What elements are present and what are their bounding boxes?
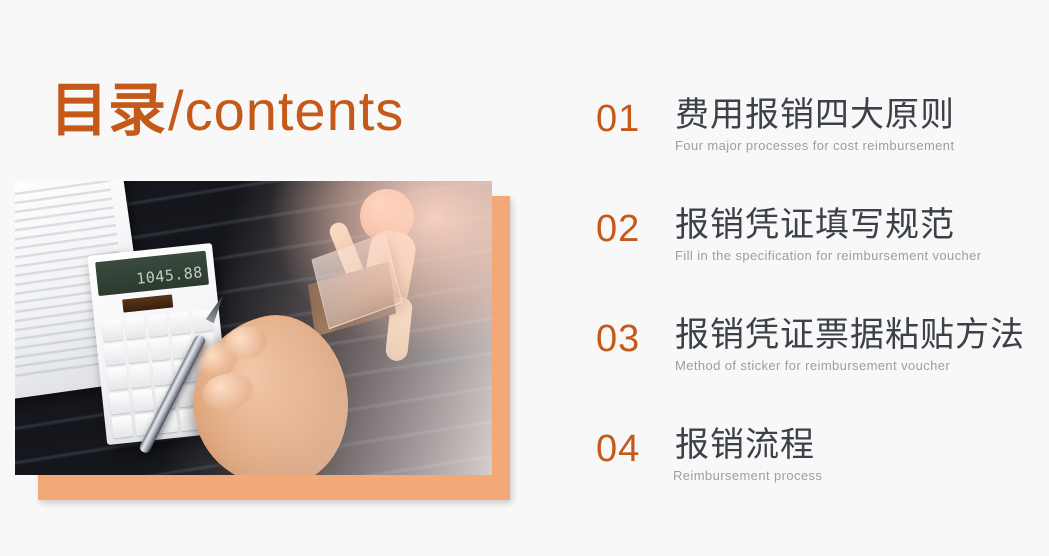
contents-item-04[interactable]: 04 报销流程 Reimbursement process	[596, 426, 1026, 536]
contents-item-title-cn: 报销凭证票据粘贴方法	[675, 316, 1025, 355]
contents-item-title-en: Fill in the specification for reimbursem…	[675, 248, 982, 263]
calculator-key	[132, 389, 154, 412]
calculator-key	[152, 362, 174, 385]
calculator-key	[126, 341, 148, 364]
calculator-key	[101, 319, 123, 342]
calculator-screen: 1045.88	[95, 251, 209, 296]
slide-canvas: 目录 /contents 1045.88	[0, 0, 1049, 556]
calculator-display-value: 1045.88	[135, 263, 203, 288]
calculator-key	[169, 312, 191, 335]
contents-item-texts: 报销凭证填写规范 Fill in the specification for r…	[675, 206, 982, 263]
contents-item-title-cn: 报销凭证填写规范	[675, 206, 982, 245]
calculator-key	[147, 314, 169, 337]
page-title-en: /contents	[168, 83, 404, 139]
contents-item-title-en: Method of sticker for reimbursement vouc…	[675, 358, 1025, 373]
contents-item-01[interactable]: 01 费用报销四大原则 Four major processes for cos…	[596, 96, 1026, 206]
contents-item-02[interactable]: 02 报销凭证填写规范 Fill in the specification fo…	[596, 206, 1026, 316]
calculator-key	[109, 391, 131, 414]
calculator-key	[124, 317, 146, 340]
page-title: 目录 /contents	[50, 82, 404, 140]
hero-photo: 1045.88	[15, 181, 492, 475]
contents-item-texts: 费用报销四大原则 Four major processes for cost r…	[675, 96, 955, 153]
contents-item-number: 01	[596, 100, 640, 138]
contents-item-title-cn: 报销流程	[675, 426, 822, 465]
page-title-cn: 目录	[50, 82, 166, 140]
calculator-key	[129, 365, 151, 388]
calculator-key	[149, 338, 171, 361]
contents-item-texts: 报销凭证票据粘贴方法 Method of sticker for reimbur…	[675, 316, 1025, 373]
contents-item-03[interactable]: 03 报销凭证票据粘贴方法 Method of sticker for reim…	[596, 316, 1026, 426]
calculator-key	[111, 415, 133, 438]
calculator-key	[104, 343, 126, 366]
wooden-mannequin-icon	[316, 187, 446, 377]
contents-item-number: 04	[596, 430, 640, 468]
calculator-key	[106, 367, 128, 390]
contents-item-number: 03	[596, 320, 640, 358]
calculator-solar-panel-icon	[122, 294, 173, 312]
contents-list: 01 费用报销四大原则 Four major processes for cos…	[596, 96, 1026, 536]
contents-item-texts: 报销流程 Reimbursement process	[675, 426, 822, 483]
contents-item-title-en: Reimbursement process	[673, 468, 822, 483]
contents-item-number: 02	[596, 210, 640, 248]
contents-item-title-cn: 费用报销四大原则	[675, 96, 955, 135]
contents-item-title-en: Four major processes for cost reimbursem…	[675, 138, 955, 153]
photo-artwork: 1045.88	[15, 181, 492, 475]
